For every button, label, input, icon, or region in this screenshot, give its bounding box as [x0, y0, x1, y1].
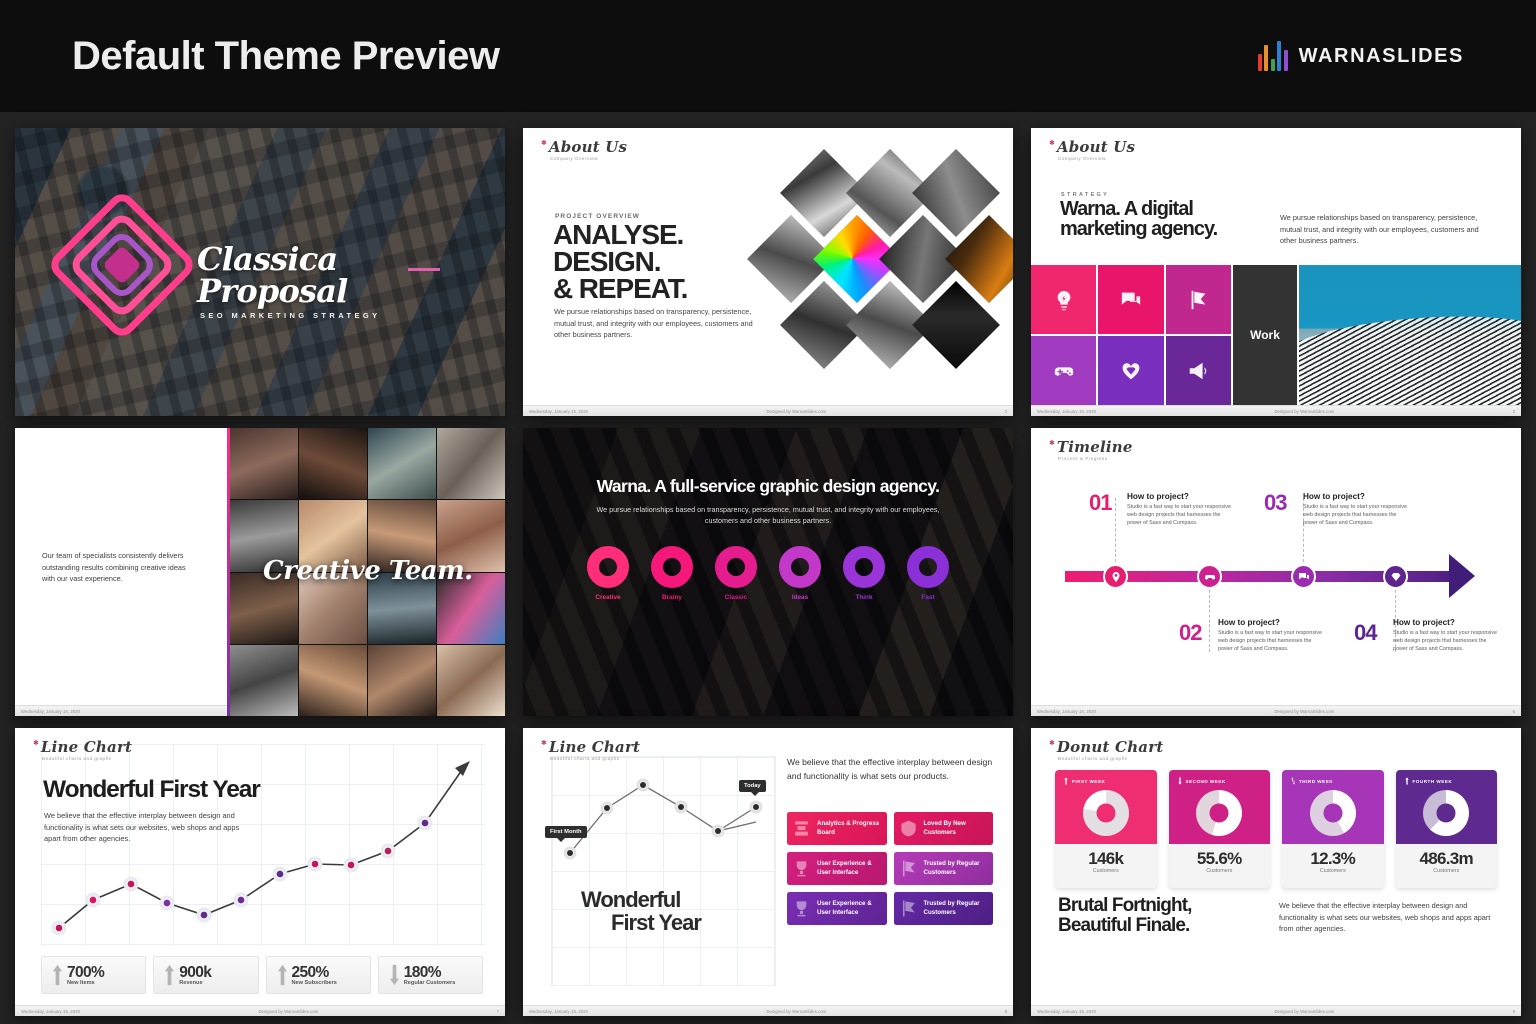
slide-thumb-donut-chart[interactable]: ✱ Donut Chart Beautiful charts and graph…: [1031, 728, 1521, 1016]
stat-value: 250%: [292, 965, 337, 980]
feature-card-trusted-2[interactable]: Trusted by Regular Customers: [894, 892, 994, 925]
footer-credit: Designed by WarnaSlides.com: [1096, 1009, 1512, 1014]
team-face: [437, 428, 505, 499]
donut-card-third-week[interactable]: THIRD WEEK 12.3% Customers: [1282, 770, 1384, 888]
footer-credit: Designed by WarnaSlides.com: [1096, 709, 1512, 714]
ring-label: Classic: [713, 594, 759, 601]
ring-label: Fast: [905, 594, 951, 601]
diamond-heart-icon: [1120, 360, 1142, 382]
stat-card-regular-customers[interactable]: 180% Regular Customers: [378, 956, 483, 994]
brand-name: WARNASLIDES: [1299, 45, 1464, 68]
timeline-block-01: How to project? Studio is a fast way to …: [1127, 492, 1232, 527]
timeline-heading: How to project?: [1218, 618, 1323, 627]
slide7-stat-row: 700% New Items 900k Revenue 250% New Sub…: [41, 956, 483, 994]
slide8-title: Wonderful First Year: [581, 888, 771, 934]
timeline-arrowhead-icon: [1449, 554, 1475, 598]
feature-card-label: User Experience & User Interface: [817, 860, 887, 877]
donut-card-sub: Customers: [1055, 868, 1157, 874]
analytics-icon: [792, 818, 811, 839]
asterisk-icon: ✱: [1049, 740, 1055, 748]
stat-value: 900k: [179, 965, 211, 980]
ring-label: Creative: [585, 594, 631, 601]
stat-value: 700%: [67, 965, 104, 980]
timeline-node-02[interactable]: [1197, 564, 1222, 589]
stat-card-revenue[interactable]: 900k Revenue: [153, 956, 258, 994]
donut-card-sub: Customers: [1169, 868, 1271, 874]
stat-label: New Subscribers: [292, 980, 337, 986]
donut-card-fourth-week[interactable]: FOURTH WEEK 486.3m Customers: [1396, 770, 1498, 888]
timeline-heading: How to project?: [1303, 492, 1408, 501]
shield-heart-icon: [899, 818, 918, 839]
footer-date: Wednesday, January 15, 2020: [1037, 709, 1096, 714]
ring-item[interactable]: Brainy: [649, 546, 695, 601]
stat-label: Regular Customers: [404, 980, 456, 986]
ring-item[interactable]: Creative: [585, 546, 631, 601]
footer-credit: Designed by WarnaSlides.com: [588, 1009, 1004, 1014]
slide-thumb-line-chart-first-year[interactable]: ✱ Line Chart Beautiful charts and graphs: [15, 728, 505, 1016]
slide2-title: ANALYSE. DESIGN. & REPEAT.: [553, 221, 783, 302]
donut-card-label: THIRD WEEK: [1299, 779, 1333, 784]
timeline-heading: How to project?: [1127, 492, 1232, 501]
donut-card-value: 55.6%: [1169, 849, 1271, 869]
trophy-icon: [792, 858, 811, 879]
timeline-number-02: 02: [1179, 620, 1201, 646]
slide4-body: Our team of specialists consistently del…: [42, 550, 197, 585]
footer-date: Wednesday, January 15, 2020: [21, 709, 80, 714]
footer-date: Wednesday, January 15, 2020: [529, 1009, 588, 1014]
slide6-head-title: Timeline: [1057, 440, 1133, 455]
footer-page-number: 3: [1513, 409, 1515, 414]
slide-thumb-full-service-agency[interactable]: Warna. A full-service graphic design age…: [523, 428, 1013, 716]
slide1-title: Classica Proposal: [197, 243, 487, 307]
ring-icon: [907, 546, 949, 588]
slide2-header: ✱ About Us Company Overview: [541, 140, 627, 161]
slide2-diamond-mosaic: [775, 170, 987, 382]
slide5-body: We pursue relationships based on transpa…: [593, 504, 943, 526]
slide8-tooltip-end: Today: [739, 780, 766, 792]
timeline-stem: [1209, 590, 1210, 652]
slide8-body: We believe that the effective interplay …: [787, 756, 993, 783]
slide9-head-sub: Beautiful charts and graphs: [1058, 756, 1163, 761]
feature-card-label: Loved By New Customers: [924, 820, 994, 837]
donut-card-second-week[interactable]: SECOND WEEK 55.6% Customers: [1169, 770, 1271, 888]
ring-icon: [715, 546, 757, 588]
stat-value: 180%: [404, 965, 456, 980]
donut-card-value: 146k: [1055, 849, 1157, 869]
slide5-title: Warna. A full-service graphic design age…: [545, 476, 991, 497]
timeline-number-04: 04: [1354, 620, 1376, 646]
slide2-footer: Wednesday, January 15, 2020 Designed by …: [523, 405, 1013, 416]
slide4-text-panel: Our team of specialists consistently del…: [15, 428, 227, 716]
flag-icon: [1187, 289, 1209, 311]
arrow-up-icon: [1063, 777, 1069, 785]
chat-icon: [1298, 571, 1310, 583]
asterisk-icon: ✱: [1049, 440, 1055, 448]
timeline-node-04[interactable]: [1383, 564, 1408, 589]
team-face: [299, 645, 367, 716]
timeline-number-03: 03: [1264, 490, 1286, 516]
slide3-tile-grid: Work: [1031, 265, 1521, 405]
donut-card-label: SECOND WEEK: [1186, 779, 1226, 784]
timeline-node-03[interactable]: [1291, 564, 1316, 589]
timeline-body: Studio is a fast way to start your respo…: [1393, 629, 1498, 653]
donut-card-value: 12.3%: [1282, 849, 1384, 869]
ring-icon: [651, 546, 693, 588]
footer-page-number: 7: [497, 1009, 499, 1014]
slide6-head-sub: Process & Progress: [1058, 456, 1133, 461]
donut-graphic: [1423, 790, 1469, 836]
arrow-up-icon: [52, 964, 63, 986]
ring-label: Think: [841, 594, 887, 601]
arrow-down-icon: [389, 964, 400, 986]
timeline-body: Studio is a fast way to start your respo…: [1303, 503, 1408, 527]
arrow-up-icon: [277, 964, 288, 986]
slide1-accent-dash: [408, 268, 440, 271]
slide-thumb-digital-marketing-agency[interactable]: ✱ About Us Company Overview STRATEGY War…: [1031, 128, 1521, 416]
ring-item[interactable]: Classic: [713, 546, 759, 601]
donut-card-sub: Customers: [1282, 868, 1384, 874]
ring-item[interactable]: Fast: [905, 546, 951, 601]
footer-date: Wednesday, January 15, 2020: [529, 409, 588, 414]
timeline-stem: [1115, 498, 1116, 562]
slide3-body: We pursue relationships based on transpa…: [1280, 212, 1495, 247]
slide-thumb-line-chart-products[interactable]: ✱ Line Chart Beautiful charts and graphs…: [523, 728, 1013, 1016]
tile-lightbulb[interactable]: [1031, 265, 1096, 334]
donut-graphic: [1310, 790, 1356, 836]
slide9-donut-cards: FIRST WEEK 146k Customers SECOND WEEK: [1055, 770, 1497, 888]
tile-flag[interactable]: [1166, 265, 1231, 334]
donut-card-value: 486.3m: [1396, 849, 1498, 869]
feature-card-label: User Experience & User Interface: [817, 900, 887, 917]
feature-card-label: Trusted by Regular Customers: [924, 900, 994, 917]
timeline-block-02: How to project? Studio is a fast way to …: [1218, 618, 1323, 653]
timeline-body: Studio is a fast way to start your respo…: [1127, 503, 1232, 527]
tile-gamepad[interactable]: [1031, 336, 1096, 405]
slide3-work-tile[interactable]: Work: [1233, 265, 1297, 405]
slide-thumb-creative-team[interactable]: Our team of specialists consistently del…: [15, 428, 505, 716]
page-title: Default Theme Preview: [72, 34, 499, 79]
lightbulb-icon: [1053, 289, 1075, 311]
ring-icon: [587, 546, 629, 588]
ring-item[interactable]: Ideas: [777, 546, 823, 601]
slide7-title: Wonderful First Year: [43, 776, 260, 804]
slide6-footer: Wednesday, January 15, 2020 Designed by …: [1031, 705, 1521, 716]
slide1-title-group: Classica Proposal SEO MARKETING STRATEGY: [197, 243, 487, 320]
slide9-header: ✱ Donut Chart Beautiful charts and graph…: [1049, 740, 1163, 761]
footer-page-number: 6: [1513, 709, 1515, 714]
footer-page-number: 9: [1513, 1009, 1515, 1014]
slide4-footer: Wednesday, January 15, 2020: [15, 705, 227, 716]
donut-card-label: FIRST WEEK: [1072, 779, 1105, 784]
diamond-icon: [1390, 571, 1402, 583]
ring-item[interactable]: Think: [841, 546, 887, 601]
slide9-head-title: Donut Chart: [1057, 740, 1164, 755]
footer-page-number: 2: [1005, 409, 1007, 414]
timeline-body: Studio is a fast way to start your respo…: [1218, 629, 1323, 653]
timeline-heading: How to project?: [1393, 618, 1498, 627]
team-face: [230, 645, 298, 716]
slide7-body: We believe that the effective interplay …: [44, 810, 249, 845]
slide9-footer: Wednesday, January 15, 2020 Designed by …: [1031, 1005, 1521, 1016]
team-face: [299, 428, 367, 499]
slide5-ring-row: Creative Brainy Classic Ideas Think Fast: [523, 546, 1013, 601]
arrow-up-icon: [1404, 777, 1410, 785]
stat-card-new-items[interactable]: 700% New Items: [41, 956, 146, 994]
team-face: [368, 645, 436, 716]
arrow-up-icon: [164, 964, 175, 986]
timeline-block-04: How to project? Studio is a fast way to …: [1393, 618, 1498, 653]
footer-date: Wednesday, January 15, 2020: [1037, 409, 1096, 414]
footer-date: Wednesday, January 15, 2020: [21, 1009, 80, 1014]
slide-thumb-analyse-design-repeat[interactable]: ✱ About Us Company Overview PROJECT OVER…: [523, 128, 1013, 416]
ring-icon: [779, 546, 821, 588]
slide2-body: We pursue relationships based on transpa…: [554, 306, 754, 341]
slide2-head-title: About Us: [549, 140, 627, 155]
donut-card-label: FOURTH WEEK: [1413, 779, 1453, 784]
slide-thumb-timeline[interactable]: ✱ Timeline Process & Progress 01 How to …: [1031, 428, 1521, 716]
footer-date: Wednesday, January 15, 2020: [1037, 1009, 1096, 1014]
timeline-block-03: How to project? Studio is a fast way to …: [1303, 492, 1408, 527]
slide3-head-title: About Us: [1057, 140, 1135, 155]
app-header: Default Theme Preview WARNASLIDES: [0, 0, 1536, 112]
slide2-head-sub: Company Overview: [550, 156, 627, 161]
arrow-updown-icon: [1290, 777, 1296, 785]
feature-card-trusted-1[interactable]: Trusted by Regular Customers: [894, 852, 994, 885]
feature-card-analytics[interactable]: Analytics & Progress Board: [787, 812, 887, 845]
slide8-feature-cards: Analytics & Progress Board Loved By New …: [787, 812, 993, 925]
footer-credit: Designed by WarnaSlides.com: [80, 1009, 496, 1014]
slide7-footer: Wednesday, January 15, 2020 Designed by …: [15, 1005, 505, 1016]
slide3-head-sub: Company Overview: [1058, 156, 1135, 161]
timeline-number-01: 01: [1089, 490, 1111, 516]
ring-label: Brainy: [649, 594, 695, 601]
ring-icon: [843, 546, 885, 588]
flag-icon: [899, 858, 918, 879]
slide9-title: Brutal Fortnight, Beautiful Finale.: [1058, 896, 1268, 936]
asterisk-icon: ✱: [541, 140, 547, 148]
feature-card-ux-1[interactable]: User Experience & User Interface: [787, 852, 887, 885]
feature-card-label: Trusted by Regular Customers: [924, 860, 994, 877]
slide3-title: Warna. A digital marketing agency.: [1060, 200, 1260, 239]
donut-graphic: [1083, 790, 1129, 836]
slide1-subtitle: SEO MARKETING STRATEGY: [200, 311, 487, 320]
feature-card-ux-2[interactable]: User Experience & User Interface: [787, 892, 887, 925]
slide8-tooltip-start: First Month: [545, 826, 587, 838]
gamepad-icon: [1204, 571, 1216, 583]
slide-grid: Classica Proposal SEO MARKETING STRATEGY…: [15, 128, 1521, 1016]
megaphone-icon: [1187, 360, 1209, 382]
stat-card-new-subscribers[interactable]: 250% New Subscribers: [266, 956, 371, 994]
brand-bars-icon: [1258, 41, 1288, 71]
tile-chat[interactable]: [1098, 265, 1163, 334]
feature-card-loved[interactable]: Loved By New Customers: [894, 812, 994, 845]
team-face: [437, 645, 505, 716]
trophy-icon: [792, 898, 811, 919]
donut-card-first-week[interactable]: FIRST WEEK 146k Customers: [1055, 770, 1157, 888]
slide3-header: ✱ About Us Company Overview: [1049, 140, 1135, 161]
classica-diamond-logo-icon: [63, 206, 181, 324]
asterisk-icon: ✱: [1049, 140, 1055, 148]
slide9-body: We believe that the effective interplay …: [1279, 900, 1499, 935]
tile-diamond-heart[interactable]: [1098, 336, 1163, 405]
tile-megaphone[interactable]: [1166, 336, 1231, 405]
footer-credit: Designed by WarnaSlides.com: [1096, 409, 1512, 414]
donut-graphic: [1196, 790, 1242, 836]
slide8-footer: Wednesday, January 15, 2020 Designed by …: [523, 1005, 1013, 1016]
donut-card-sub: Customers: [1396, 868, 1498, 874]
slide4-caption: Creative Team.: [263, 556, 473, 586]
ring-label: Ideas: [777, 594, 823, 601]
team-face: [230, 428, 298, 499]
footer-credit: Designed by WarnaSlides.com: [588, 409, 1004, 414]
gamepad-icon: [1053, 360, 1075, 382]
slide6-header: ✱ Timeline Process & Progress: [1049, 440, 1133, 461]
arrow-down-icon: [1177, 777, 1183, 785]
slide-thumb-classica-proposal[interactable]: Classica Proposal SEO MARKETING STRATEGY: [15, 128, 505, 416]
slide3-footer: Wednesday, January 15, 2020 Designed by …: [1031, 405, 1521, 416]
flag-icon: [899, 898, 918, 919]
footer-page-number: 8: [1005, 1009, 1007, 1014]
brand-logo: WARNASLIDES: [1258, 41, 1464, 71]
feature-card-label: Analytics & Progress Board: [817, 820, 887, 837]
timeline-node-01[interactable]: [1103, 564, 1128, 589]
slide3-wave-graphic: [1299, 265, 1521, 405]
team-face: [368, 428, 436, 499]
chat-icon: [1120, 289, 1142, 311]
location-pin-icon: [1110, 571, 1122, 583]
